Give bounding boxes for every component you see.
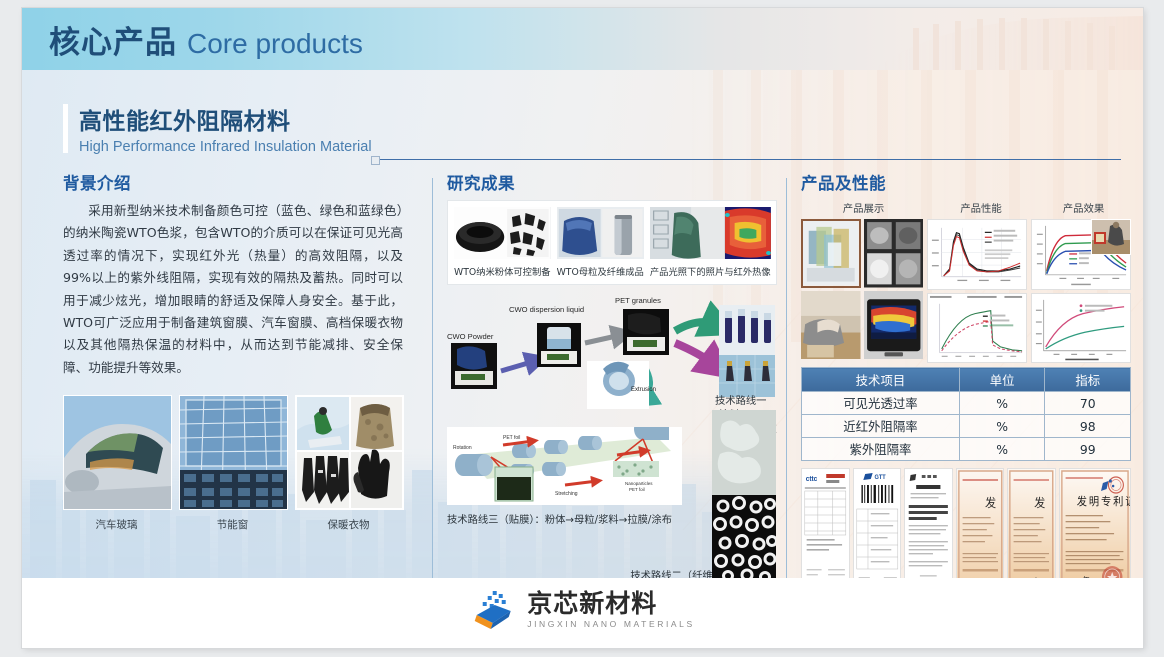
process-flow-diagram: CWO Powder CWO dispersion liquid PET gra… (447, 299, 777, 409)
test-report-document (904, 468, 953, 592)
patent-certificate-1: 发 (956, 468, 1005, 592)
svg-text:cttc: cttc (806, 476, 818, 483)
column-divider-right (786, 178, 787, 580)
test-report-gtt: GTT (853, 468, 902, 592)
fiber-product-photos (712, 410, 776, 580)
thumb-caption: 节能窗 (179, 517, 286, 532)
section-heading: 高性能红外阻隔材料 High Performance Infrared Insu… (63, 102, 372, 155)
col-header-item: 技术项目 (802, 368, 960, 392)
jingxin-logo-icon (470, 589, 518, 631)
thumb-energy-window: 节能窗 (179, 395, 286, 532)
infrared-thermal-image-photo (650, 207, 771, 259)
product-media-row (801, 219, 1131, 359)
thumb-thermal-clothing: 保暖衣物 (295, 395, 402, 532)
cell-unit: % (959, 415, 1045, 438)
subheading-product-performance: 产品性能 (926, 200, 1036, 215)
temperature-curve-chart (928, 220, 1026, 289)
svg-text:GTT: GTT (874, 475, 886, 481)
cell-item: 紫外阻隔率 (802, 438, 960, 461)
car-window-glass-photo (63, 395, 172, 510)
result-caption: 产品光照下的照片与红外热像 (650, 264, 771, 278)
result-item-masterbatch: WTO母粒及纤维成品 (557, 207, 644, 278)
column-background: 背景介绍 采用新型纳米技术制备颜色可控（蓝色、绿色和蓝绿色）的纳米陶瓷WTO色浆… (63, 170, 403, 532)
cell-unit: % (959, 392, 1045, 415)
cell-unit: % (959, 438, 1045, 461)
svg-text:Stretching: Stretching (555, 491, 578, 497)
patent-title-text: 发明专利证书 (1077, 495, 1130, 508)
patent-certificate-3: 发明专利证书 年 (1059, 468, 1131, 592)
table-header-row: 技术项目 单位 指标 (802, 368, 1131, 392)
application-thumbnails: 汽车玻璃 (63, 395, 403, 532)
wto-masterbatch-fiber-photo (557, 207, 644, 259)
section-rule (380, 159, 1121, 160)
page-title: 核心产品Core products (49, 17, 363, 62)
svg-text:Extrusion: Extrusion (631, 387, 656, 393)
logo-text: 京芯新材料 JINGXIN NANO MATERIALS (527, 591, 695, 628)
col-header-value: 指标 (1045, 368, 1131, 392)
result-caption: WTO母粒及纤维成品 (557, 264, 644, 278)
effect-chart-bottom (1031, 293, 1131, 364)
cell-value: 70 (1045, 392, 1131, 415)
col-header-unit: 单位 (959, 368, 1045, 392)
logo-text-cn: 京芯新材料 (527, 591, 695, 617)
thermal-camera-display-photo (864, 291, 924, 360)
effect-inset-photo (1091, 219, 1131, 255)
product-glass-samples-photo (801, 219, 861, 288)
certificates-row: cttc (801, 468, 1131, 592)
patent-certificate-2: 发 年 (1007, 468, 1056, 592)
svg-text:发: 发 (1035, 496, 1047, 510)
heading-accent-bar (63, 104, 68, 153)
flow-arrows: Extrusion (447, 299, 777, 409)
background-paragraph: 采用新型纳米技术制备颜色可控（蓝色、绿色和蓝绿色）的纳米陶瓷WTO色浆，包含WT… (63, 200, 403, 379)
result-caption: WTO纳米粉体可控制备 (454, 264, 551, 278)
product-application-photo (801, 291, 861, 360)
table-row: 可见光透过率 % 70 (802, 392, 1131, 415)
thumb-car-glass: 汽车玻璃 (63, 395, 170, 532)
right-column-heading: 产品及性能 (801, 170, 1131, 194)
slide-header: 核心产品Core products (22, 8, 1143, 70)
product-effect-charts (1031, 219, 1131, 359)
cell-value: 99 (1045, 438, 1131, 461)
svg-text:Rotation: Rotation (453, 445, 472, 451)
section-title-en: High Performance Infrared Insulation Mat… (79, 139, 372, 155)
test-report-cttc: cttc (801, 468, 850, 592)
slide: 核心产品Core products (22, 8, 1143, 648)
logo-text-en: JINGXIN NANO MATERIALS (527, 619, 695, 629)
product-subheadings: 产品展示 产品性能 产品效果 (801, 200, 1131, 215)
performance-chart-bottom (927, 293, 1027, 364)
insulation-curve-chart (928, 294, 1026, 363)
table-row: 紫外阻隔率 % 99 (802, 438, 1131, 461)
product-display-grid (801, 219, 923, 359)
cell-value: 98 (1045, 415, 1131, 438)
page-title-en: Core products (187, 28, 363, 59)
svg-text:发: 发 (985, 496, 997, 510)
performance-chart-top (927, 219, 1027, 290)
irradiation-time-chart (1032, 294, 1130, 363)
research-results-card: WTO纳米粉体可控制备 (447, 200, 777, 285)
subheading-product-display: 产品展示 (801, 200, 926, 215)
column-research: 研究成果 (447, 170, 777, 528)
film-stretching-illustration: Rotation PET foil Stretching Nanoparticl… (447, 427, 682, 505)
product-performance-charts (927, 219, 1027, 359)
thumb-caption: 保暖衣物 (295, 517, 402, 532)
column-product: 产品及性能 产品展示 产品性能 产品效果 (801, 170, 1131, 592)
left-column-heading: 背景介绍 (63, 170, 403, 194)
svg-text:PET foil: PET foil (503, 435, 520, 441)
table-row: 近红外阻隔率 % 98 (802, 415, 1131, 438)
column-divider-left (432, 178, 433, 580)
specification-table: 技术项目 单位 指标 可见光透过率 % 70 近红外阻隔率 % 98 (801, 367, 1131, 461)
page-title-cn: 核心产品 (49, 25, 177, 61)
slide-footer: 京芯新材料 JINGXIN NANO MATERIALS (22, 578, 1143, 648)
svg-text:PET foil: PET foil (629, 487, 645, 492)
slide-body: 高性能红外阻隔材料 High Performance Infrared Insu… (22, 70, 1143, 578)
result-item-powder: WTO纳米粉体可控制备 (454, 207, 551, 278)
section-title-cn: 高性能红外阻隔材料 (79, 102, 372, 136)
thermal-clothing-photo (295, 395, 404, 510)
hollow-fiber-photo (712, 410, 776, 580)
company-logo: 京芯新材料 JINGXIN NANO MATERIALS (470, 589, 695, 631)
svg-text:Nanoparticles: Nanoparticles (625, 481, 653, 486)
result-item-thermal: 产品光照下的照片与红外热像 (650, 207, 771, 278)
product-packaged-granules-photo (864, 219, 924, 288)
cell-item: 可见光透过率 (802, 392, 960, 415)
header-architecture-watermark (723, 8, 1143, 70)
middle-column-heading: 研究成果 (447, 170, 777, 194)
subheading-product-effect: 产品效果 (1036, 200, 1131, 215)
thumb-caption: 汽车玻璃 (63, 517, 170, 532)
wto-nano-powder-photo (454, 207, 551, 259)
energy-saving-window-photo (179, 395, 288, 510)
cell-item: 近红外阻隔率 (802, 415, 960, 438)
